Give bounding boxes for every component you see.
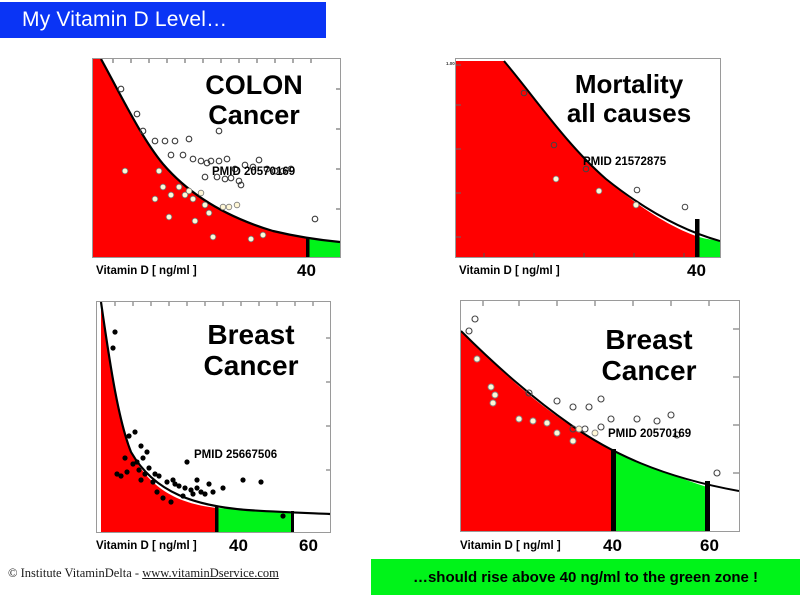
plot-area-breast-cancer-a xyxy=(96,301,331,533)
right-axis-ticks xyxy=(733,329,739,473)
plot-area-colon-cancer xyxy=(92,58,341,258)
axis-row-colon-cancer: Vitamin D [ ng/ml ] 40 xyxy=(92,263,352,283)
page-title: My Vitamin D Level… xyxy=(0,8,227,32)
threshold-divider-40 xyxy=(306,238,310,257)
red-risk-area xyxy=(461,331,613,531)
x-tick-40-breast-a: 40 xyxy=(229,536,248,556)
x-tick-60-breast-a: 60 xyxy=(299,536,318,556)
footer-credit: © Institute VitaminDelta - www.vitaminDs… xyxy=(8,566,279,581)
red-risk-area xyxy=(101,302,217,532)
x-tick-40-colon: 40 xyxy=(297,261,316,281)
threshold-divider-40 xyxy=(215,507,219,532)
x-tick-40-mortality: 40 xyxy=(687,261,706,281)
chart-panel-colon-cancer: COLON Cancer PMID 20570169 xyxy=(92,58,341,258)
x-axis-label-breast-a: Vitamin D [ ng/ml ] xyxy=(96,540,197,552)
footer-website-link[interactable]: www.vitaminDservice.com xyxy=(142,566,279,580)
footer-credit-prefix: © Institute VitaminDelta - xyxy=(8,566,142,580)
plot-svg-colon-cancer xyxy=(93,59,340,257)
green-zone-area xyxy=(613,451,707,531)
x-axis-label-breast-b: Vitamin D [ ng/ml ] xyxy=(460,540,561,552)
plot-area-mortality xyxy=(455,58,721,258)
top-axis-ticks xyxy=(115,302,313,306)
threshold-divider-40 xyxy=(695,219,700,257)
red-risk-area xyxy=(456,61,696,257)
chart-panel-breast-cancer-b: Breast Cancer PMID 20570169 xyxy=(460,300,740,532)
plot-svg-breast-cancer-a xyxy=(97,302,330,532)
recommendation-banner-text: …should rise above 40 ng/ml to the green… xyxy=(413,569,758,586)
plot-svg-mortality xyxy=(456,59,720,257)
axis-row-mortality: Vitamin D [ ng/ml ] 40 xyxy=(455,263,735,283)
top-axis-ticks xyxy=(113,59,311,63)
x-tick-60-breast-b: 60 xyxy=(700,536,719,556)
chart-panel-breast-cancer-a: Breast Cancer PMID 25667506 xyxy=(96,301,331,533)
x-tick-40-breast-b: 40 xyxy=(603,536,622,556)
y-tick-label-mortality: 1.00 xyxy=(446,61,455,66)
axis-row-breast-cancer-a: Vitamin D [ ng/ml ] 40 60 xyxy=(96,538,366,558)
slide-canvas: My Vitamin D Level… xyxy=(0,0,800,600)
plot-area-breast-cancer-b xyxy=(460,300,740,532)
chart-panel-mortality: 1.00 Mortality all causes PMID 21572875 xyxy=(455,58,721,258)
x-axis-label-colon: Vitamin D [ ng/ml ] xyxy=(96,265,197,277)
x-axis-label-mortality: Vitamin D [ ng/ml ] xyxy=(459,265,560,277)
recommendation-banner: …should rise above 40 ng/ml to the green… xyxy=(371,559,800,595)
right-axis-ticks xyxy=(336,89,340,209)
top-axis-ticks xyxy=(483,301,709,306)
threshold-divider-60 xyxy=(291,511,294,532)
axis-row-breast-cancer-b: Vitamin D [ ng/ml ] 40 60 xyxy=(460,538,760,558)
threshold-divider-60 xyxy=(705,481,710,531)
plot-svg-breast-cancer-b xyxy=(461,301,739,531)
threshold-divider-40 xyxy=(611,449,616,531)
slide-title-banner: My Vitamin D Level… xyxy=(0,2,326,38)
right-axis-ticks xyxy=(326,338,330,470)
